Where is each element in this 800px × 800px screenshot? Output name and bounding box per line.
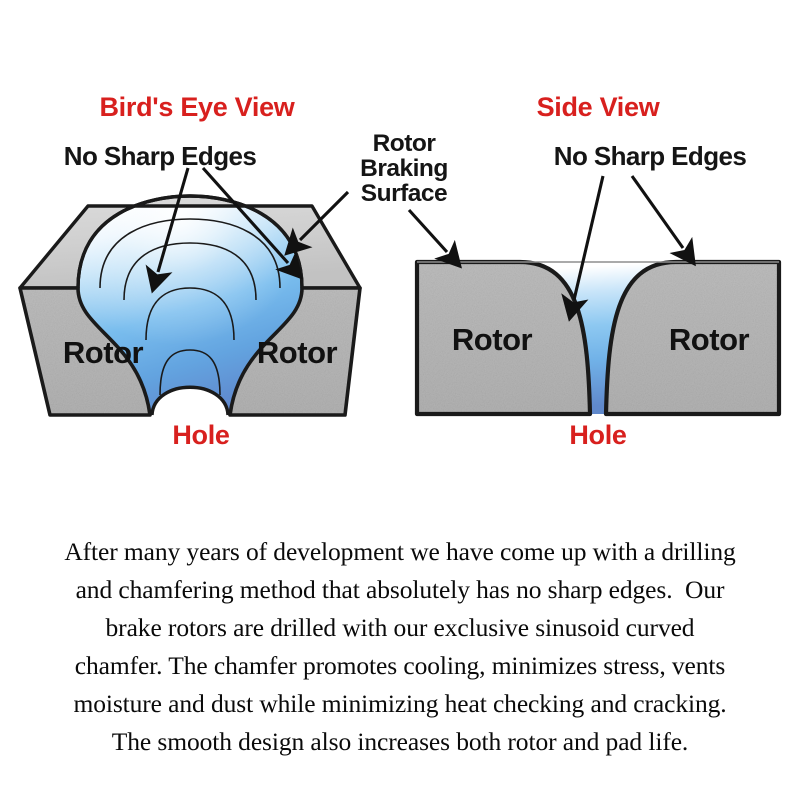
caption-line-6: The smooth design also increases both ro… [0,723,800,761]
rotor-chamfer-infographic: Bird's Eye View Side View No Sharp Edges… [0,0,800,800]
rotor-label-right-bev: Rotor [257,335,338,370]
rotor-label-left-side: Rotor [452,322,533,357]
side-view-title: Side View [537,92,661,122]
braking-surface-label-line2: Braking [360,155,448,182]
caption-line-5: moisture and dust while minimizing heat … [0,685,800,723]
rotor-label-right-side: Rotor [669,322,750,357]
arrow-braking-surface-right [409,210,447,252]
caption-line-2: and chamfering method that absolutely ha… [0,571,800,609]
birds-eye-view-title: Bird's Eye View [99,92,295,122]
rotor-label-left-bev: Rotor [63,335,144,370]
braking-surface-label-line3: Surface [361,180,447,207]
caption-line-4: chamfer. The chamfer promotes cooling, m… [0,647,800,685]
no-sharp-edges-label-right: No Sharp Edges [554,141,747,171]
braking-surface-label-line1: Rotor [373,130,437,157]
hole-label-side: Hole [569,420,627,450]
caption-paragraph: After many years of development we have … [0,533,800,761]
arrow-no-sharp-edges-right-b [632,176,683,248]
caption-line-1: After many years of development we have … [0,533,800,571]
no-sharp-edges-label-left: No Sharp Edges [64,141,257,171]
caption-line-3: brake rotors are drilled with our exclus… [0,609,800,647]
hole-label-bev: Hole [172,420,230,450]
